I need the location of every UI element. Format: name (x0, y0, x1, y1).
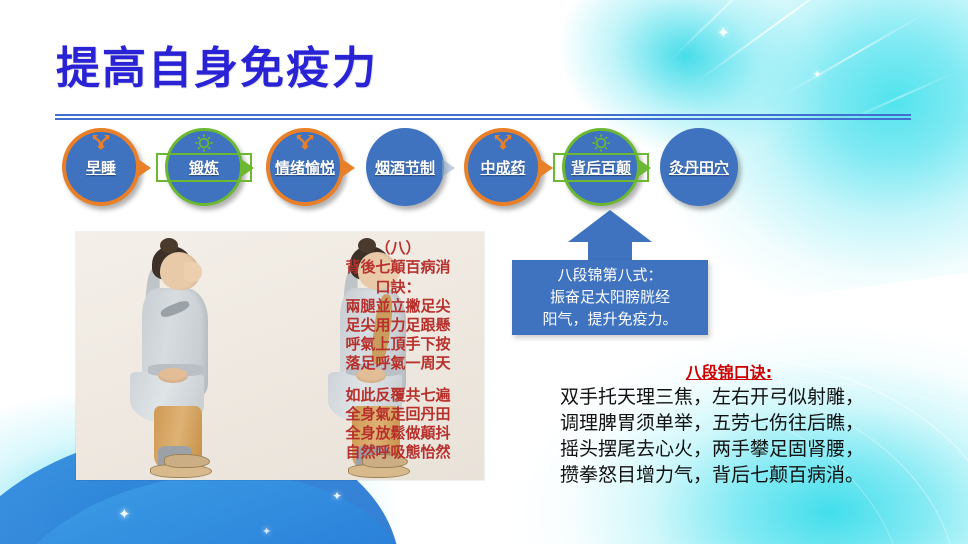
gear-icon (165, 133, 243, 153)
verse-line: 全身放鬆做顛抖 (318, 424, 478, 443)
page-title: 提高自身免疫力 (56, 32, 378, 96)
mantra-line: 攒拳怒目增力气，背后七颠百病消。 (560, 462, 960, 488)
flow-node-label: 情绪愉悦 (260, 157, 350, 178)
verse-line: 自然呼吸態怡然 (318, 443, 478, 462)
gear-icon (562, 133, 640, 153)
flow-node-label: 中成药 (458, 157, 548, 178)
verse-heading: （八） (318, 238, 478, 258)
callout-text: 八段锦第八式： 振奋足太阳膀胱经 阳气，提升免疫力。 (512, 264, 708, 330)
mantra-line: 调理脾胃须单举，五劳七伤往后瞧， (560, 410, 960, 436)
arrow-stem (588, 240, 632, 262)
process-flow: 早睡 锻炼 (0, 128, 968, 220)
verse-spacer (318, 373, 478, 386)
shuffle-arrows-icon (464, 133, 542, 150)
illustration-verse: （八） 背後七顛百病消 口訣： 兩腿並立撇足尖 足尖用力足跟懸 呼氣上頂手下按 … (318, 238, 478, 462)
sparkle-icon: ✦ (813, 70, 822, 81)
flow-node-label: 早睡 (56, 157, 146, 178)
verse-line: 如此反覆共七遍 (318, 386, 478, 405)
up-arrow-icon (568, 210, 652, 242)
sparkle-icon: ✦ (332, 490, 342, 502)
sparkle-icon: ✦ (717, 26, 730, 42)
flow-node-limit-smoke-alcohol[interactable]: 烟酒节制 (366, 128, 444, 206)
mantra-title: 八段锦口诀: (560, 362, 960, 384)
mantra-line: 摇头摆尾去心火，两手攀足固肾腰， (560, 436, 960, 462)
slide-canvas: ✦ ✦ ✦ ✦ ✦ ✦ 提高自身免疫力 早睡 (0, 0, 968, 544)
verse-line: 全身氣走回丹田 (318, 405, 478, 424)
verse-label: 口訣： (318, 277, 478, 297)
shuffle-arrows-icon (62, 133, 140, 150)
verse-line: 落足呼氣一周天 (318, 354, 478, 373)
baduanjin-mantra: 八段锦口诀: 双手托天理三焦，左右开弓似射雕， 调理脾胃须单举，五劳七伤往后瞧，… (560, 362, 960, 488)
callout-line: 阳气，提升免疫力。 (512, 308, 708, 330)
sparkle-icon: ✦ (262, 527, 271, 538)
callout-arrow-box: 八段锦第八式： 振奋足太阳膀胱经 阳气，提升免疫力。 (512, 210, 708, 335)
flow-node-label: 灸丹田穴 (654, 157, 744, 178)
flow-node-moxibustion-dantian[interactable]: 灸丹田穴 (660, 128, 738, 206)
flow-node-back-heel-drop[interactable]: 背后百颠 (562, 128, 640, 206)
flow-node-exercise[interactable]: 锻炼 (165, 128, 243, 206)
shuffle-arrows-icon (266, 133, 344, 150)
verse-line: 兩腿並立撇足尖 (318, 297, 478, 316)
flow-node-mood[interactable]: 情绪愉悦 (266, 128, 344, 206)
sparkle-icon: ✦ (118, 507, 131, 522)
background-ray (779, 12, 927, 98)
callout-line: 八段锦第八式： (512, 264, 708, 286)
flow-node-early-sleep[interactable]: 早睡 (62, 128, 140, 206)
flow-node-label: 烟酒节制 (360, 157, 450, 178)
mantra-line: 双手托天理三焦，左右开弓似射雕， (560, 384, 960, 410)
flow-node-chinese-medicine[interactable]: 中成药 (464, 128, 542, 206)
flow-node-label: 背后百颠 (553, 153, 649, 182)
verse-subheading: 背後七顛百病消 (318, 258, 478, 277)
sparkle-icon: ✦ (490, 530, 498, 540)
title-divider (55, 114, 911, 120)
figure-front-view (124, 246, 244, 474)
verse-line: 呼氣上頂手下按 (318, 335, 478, 354)
flow-node-label: 锻炼 (156, 153, 252, 182)
baduanjin-illustration: （八） 背後七顛百病消 口訣： 兩腿並立撇足尖 足尖用力足跟懸 呼氣上頂手下按 … (76, 232, 484, 480)
callout-line: 振奋足太阳膀胱经 (512, 286, 708, 308)
verse-line: 足尖用力足跟懸 (318, 316, 478, 335)
